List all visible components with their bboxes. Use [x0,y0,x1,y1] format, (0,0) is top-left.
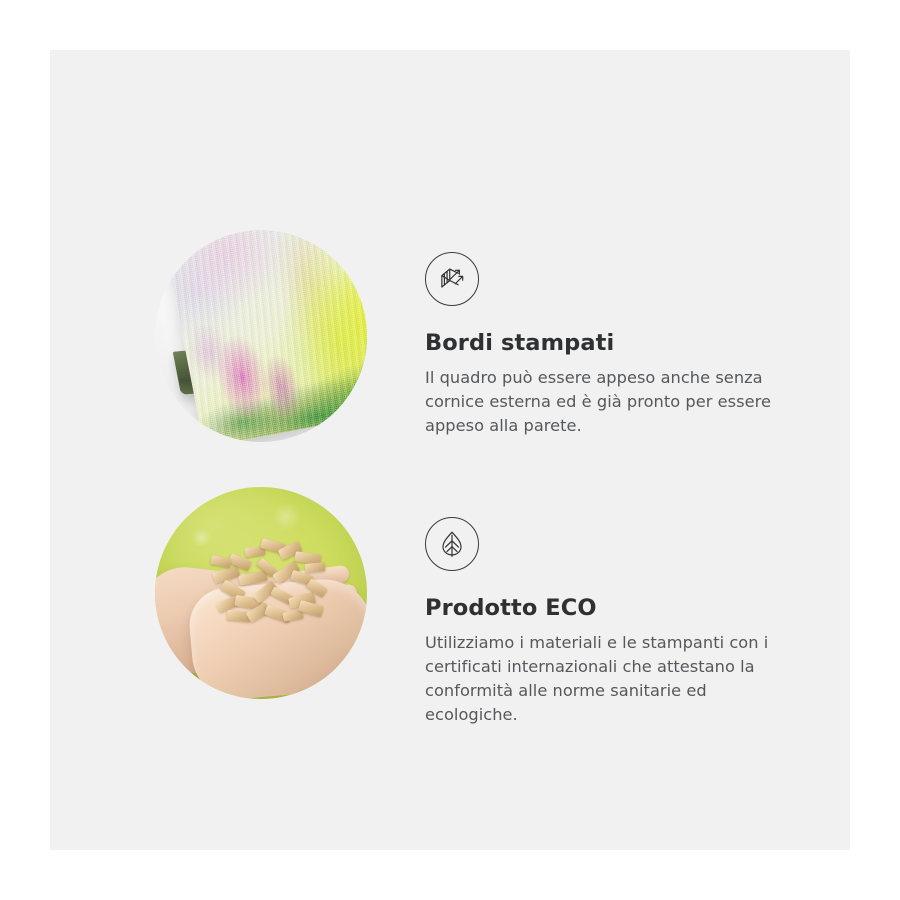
content-panel: Bordi stampati Il quadro può essere appe… [50,50,850,850]
eco-photo-inner [155,487,367,699]
wood-chips-pile [207,539,337,625]
product-feature-infographic: Bordi stampati Il quadro può essere appe… [0,0,900,900]
leaf-icon [425,517,479,571]
feature-description: Utilizziamo i materiali e le stampanti c… [425,631,797,727]
canvas-printed-edge-photo [155,230,367,442]
feature-title: Prodotto ECO [425,595,815,622]
feature-text-eco-product: Prodotto ECO Utilizziamo i materiali e l… [425,517,815,727]
feature-title: Bordi stampati [425,330,815,357]
feature-text-printed-edges: Bordi stampati Il quadro può essere appe… [425,252,815,438]
feature-description: Il quadro può essere appeso anche senza … [425,366,797,438]
feature-block-printed-edges: Bordi stampati Il quadro può essere appe… [50,190,850,460]
feature-block-eco-product: Prodotto ECO Utilizziamo i materiali e l… [50,465,850,735]
eco-wood-chips-photo [155,487,367,699]
canvas-photo-inner [155,230,367,442]
printed-edges-icon [425,252,479,306]
